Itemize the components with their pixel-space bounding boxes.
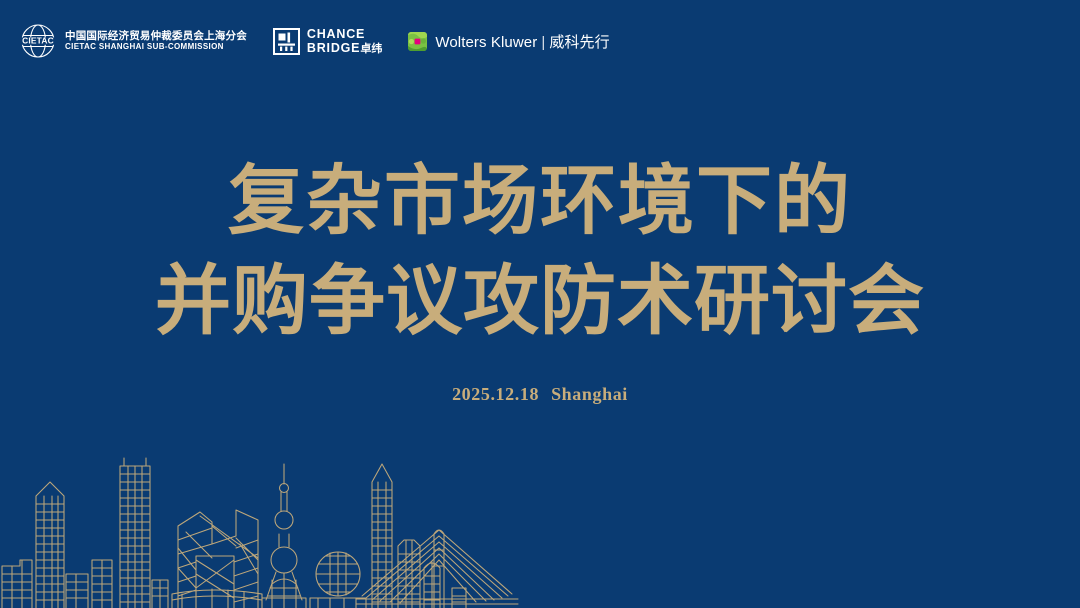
title-line-2: 并购争议攻防术研讨会 — [0, 252, 1080, 352]
cietac-name-cn: 中国国际经济贸易仲裁委员会上海分会 — [65, 30, 247, 42]
chance-bridge-wordmark: CHANCE BRIDGE卓纬 — [307, 27, 382, 55]
cietac-name-en: CIETAC SHANGHAI SUB-COMMISSION — [65, 42, 247, 51]
wolters-kluwer-square-icon — [408, 32, 427, 51]
wolters-kluwer-name-cn: 威科先行 — [549, 34, 609, 51]
chance-bridge-line2-cn: 卓纬 — [360, 43, 382, 55]
logo-chance-bridge[interactable]: CHANCE BRIDGE卓纬 — [273, 27, 382, 55]
event-date: 2025.12.18 — [452, 384, 539, 404]
wolters-kluwer-divider: | — [537, 34, 549, 51]
event-datetime-location: 2025.12.18Shanghai — [0, 384, 1080, 405]
cietac-wordmark: 中国国际经济贸易仲裁委员会上海分会 CIETAC SHANGHAI SUB-CO… — [65, 30, 247, 52]
logo-wolters-kluwer[interactable]: Wolters Kluwer|威科先行 — [408, 31, 609, 52]
city-skyline-graphic — [0, 448, 520, 608]
event-city: Shanghai — [551, 384, 628, 404]
poster-canvas: CIETAC 中国国际经济贸易仲裁委员会上海分会 CIETAC SHANGHAI… — [0, 0, 1080, 608]
chance-bridge-line1: CHANCE — [307, 27, 382, 41]
sponsor-logo-bar: CIETAC 中国国际经济贸易仲裁委员会上海分会 CIETAC SHANGHAI… — [18, 22, 610, 60]
wolters-kluwer-wordmark: Wolters Kluwer|威科先行 — [435, 31, 609, 52]
svg-text:CIETAC: CIETAC — [22, 36, 54, 46]
wolters-kluwer-name: Wolters Kluwer — [435, 34, 537, 51]
bridge-square-icon — [273, 28, 300, 55]
title-line-1: 复杂市场环境下的 — [0, 152, 1080, 252]
logo-cietac[interactable]: CIETAC 中国国际经济贸易仲裁委员会上海分会 CIETAC SHANGHAI… — [18, 22, 247, 60]
globe-icon: CIETAC — [18, 22, 58, 60]
page-title: 复杂市场环境下的 并购争议攻防术研讨会 — [0, 152, 1080, 352]
chance-bridge-line2: BRIDGE — [307, 41, 360, 55]
